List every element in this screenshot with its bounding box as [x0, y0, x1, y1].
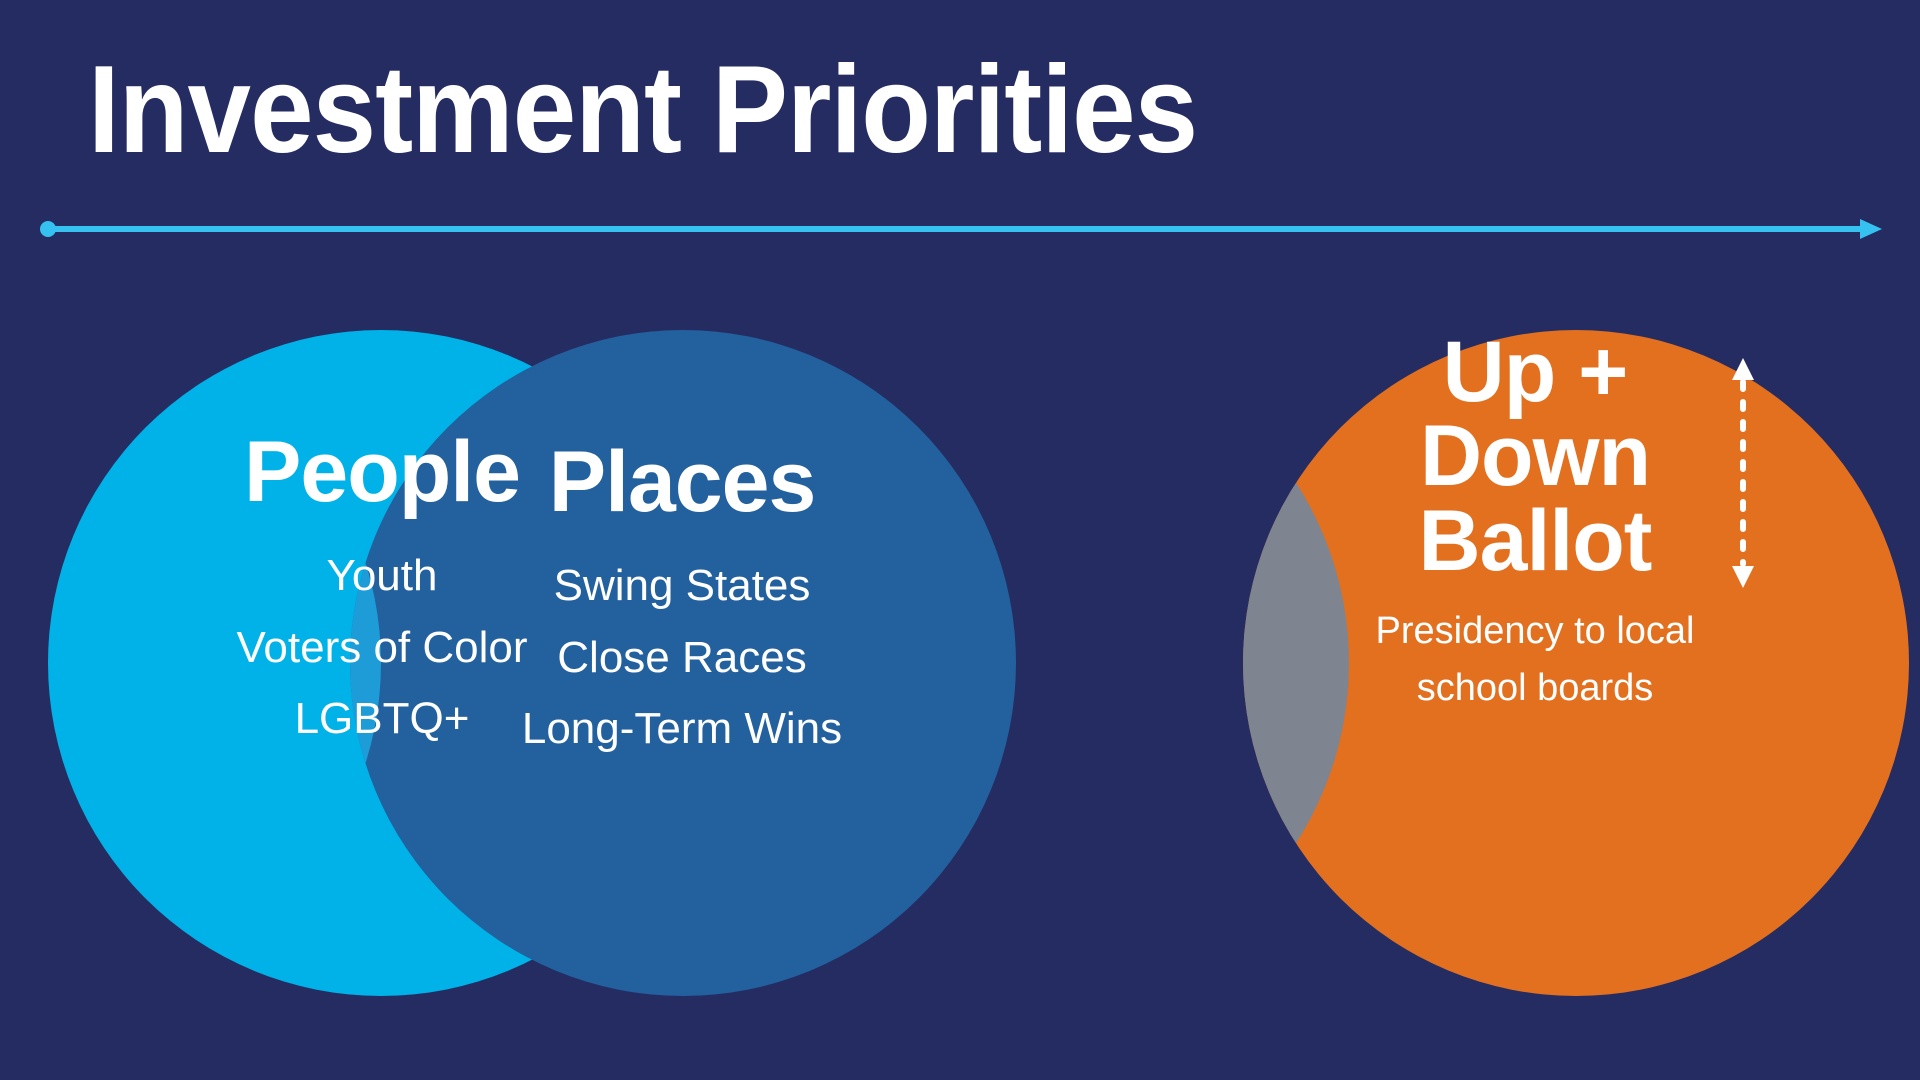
venn-heading-ballot-line-1: Up +: [1270, 330, 1800, 414]
title-accent-rule: [40, 214, 1890, 242]
venn-heading-places: Places: [408, 440, 956, 524]
venn-content-ballot: Up + Down Ballot Presidency to local sch…: [1270, 330, 1800, 717]
venn-list-ballot: Presidency to local school boards: [1270, 603, 1800, 717]
venn-heading-ballot-line-3: Ballot: [1270, 499, 1800, 583]
venn-heading-ballot: Up + Down Ballot: [1270, 330, 1800, 583]
list-item: Close Races: [408, 622, 956, 693]
venn-list-places: Swing States Close Races Long-Term Wins: [408, 550, 956, 764]
list-item: school boards: [1270, 660, 1800, 717]
venn-heading-ballot-line-2: Down: [1270, 414, 1800, 498]
venn-content-places: Places Swing States Close Races Long-Ter…: [408, 440, 956, 764]
arrow-right-icon: [1860, 219, 1882, 239]
venn-diagram: People Youth Voters of Color LGBTQ+ Plac…: [0, 280, 1920, 1080]
arrow-up-down-dotted-icon: [1723, 358, 1763, 588]
list-item: Long-Term Wins: [408, 693, 956, 764]
rule-line: [52, 226, 1864, 232]
infographic-canvas: Investment Priorities People Youth Voter…: [0, 0, 1920, 1080]
list-item: Presidency to local: [1270, 603, 1800, 660]
list-item: Swing States: [408, 550, 956, 621]
page-title: Investment Priorities: [88, 48, 1197, 172]
